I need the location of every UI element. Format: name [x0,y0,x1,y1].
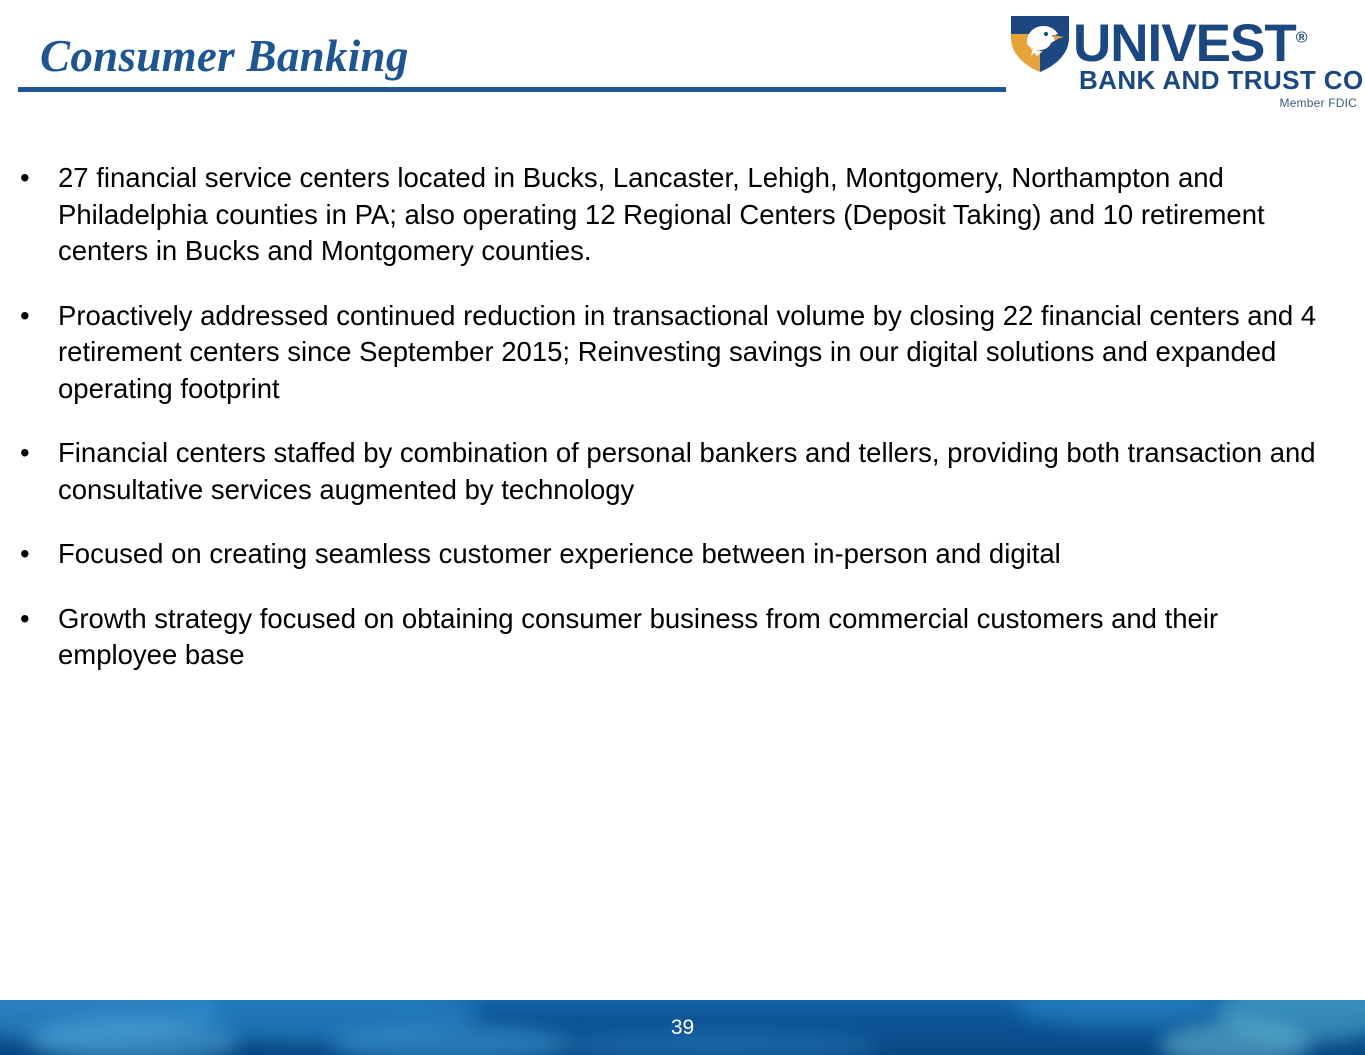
list-item: • Growth strategy focused on obtaining c… [0,601,1365,674]
logo-tagline: BANK AND TRUST CO. [1079,66,1365,94]
list-item-text: Focused on creating seamless customer ex… [58,536,1339,573]
univest-eagle-shield-icon [1007,12,1073,74]
bullet-marker-icon: • [20,601,30,638]
list-item: • Financial centers staffed by combinati… [0,435,1365,508]
bullet-marker-icon: • [20,536,30,573]
univest-logo: UNIVEST® BANK AND TRUST CO. Member FDIC [1007,10,1357,108]
title-divider-rule [18,87,1006,92]
logo-wordmark: UNIVEST® [1073,10,1357,66]
slide: Consumer Banking [0,0,1365,1055]
member-fdic-note: Member FDIC [1279,96,1357,110]
bullet-list: • 27 financial service centers located i… [0,160,1365,674]
list-item-text: Growth strategy focused on obtaining con… [58,601,1339,674]
list-item-text: 27 financial service centers located in … [58,160,1339,270]
page-title: Consumer Banking [40,30,409,82]
list-item-text: Financial centers staffed by combination… [58,435,1339,508]
slide-body: • 27 financial service centers located i… [0,160,1365,960]
page-number: 39 [0,1000,1365,1055]
slide-footer: 39 [0,1000,1365,1055]
list-item: • Proactively addressed continued reduct… [0,298,1365,408]
logo-brand-text: UNIVEST [1073,14,1296,73]
bullet-marker-icon: • [20,160,30,197]
list-item: • 27 financial service centers located i… [0,160,1365,270]
bullet-marker-icon: • [20,298,30,335]
list-item-text: Proactively addressed continued reductio… [58,298,1339,408]
registered-trademark-icon: ® [1296,29,1308,46]
bullet-marker-icon: • [20,435,30,472]
slide-header: Consumer Banking [0,0,1365,115]
list-item: • Focused on creating seamless customer … [0,536,1365,573]
